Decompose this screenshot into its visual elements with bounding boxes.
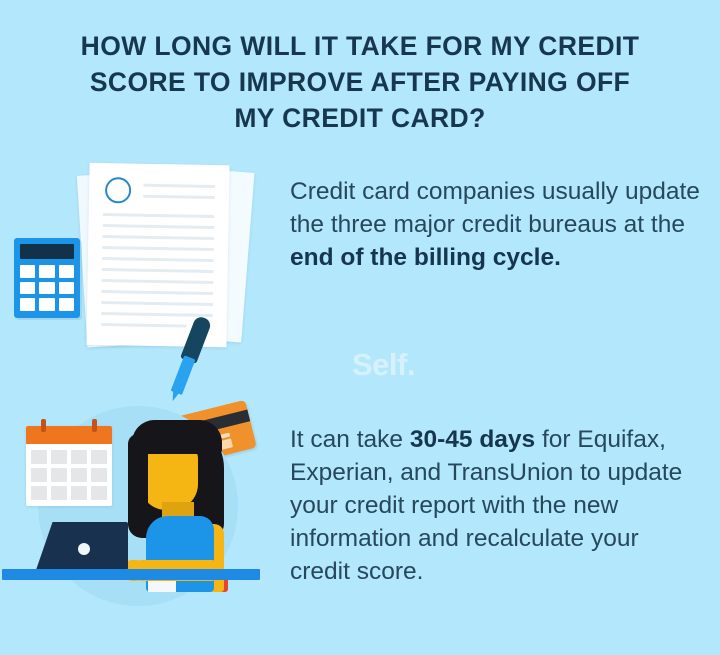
person-face xyxy=(140,448,198,510)
calculator-key xyxy=(20,298,35,311)
calendar-ring xyxy=(41,419,46,432)
calculator-key xyxy=(20,265,35,278)
bureau-update-text-plain-1: It can take xyxy=(290,426,410,453)
calculator-key xyxy=(20,282,35,295)
billing-cycle-text-emphasis: end of the billing cycle. xyxy=(290,244,561,271)
calendar-day-cell xyxy=(91,468,107,482)
calculator-key xyxy=(39,282,54,295)
laptop-logo-icon xyxy=(78,543,90,555)
bureau-update-text-emphasis: 30-45 days xyxy=(410,426,535,453)
documents-calculator-pen-card-illustration xyxy=(0,150,290,355)
calendar-ring xyxy=(92,419,97,432)
billing-cycle-text-plain: Credit card companies usually update the… xyxy=(290,178,700,238)
calendar-header-band xyxy=(26,426,112,444)
calculator-key xyxy=(59,282,74,295)
illustration-cell-billing-cycle xyxy=(0,150,290,355)
infographic-canvas: { "title": { "line1": "How long will it … xyxy=(0,0,720,655)
desk-surface xyxy=(2,569,260,580)
self-watermark: Self. xyxy=(352,347,415,383)
calendar-day-cell xyxy=(71,468,87,482)
calendar-day-cell xyxy=(31,450,47,464)
billing-cycle-paragraph: Credit card companies usually update the… xyxy=(290,175,702,274)
text-cell-bureau-update: It can take 30-45 days for Equifax, Expe… xyxy=(290,398,720,612)
calculator-key xyxy=(39,298,54,311)
person-laptop-calendar-illustration xyxy=(0,398,290,613)
calculator-icon xyxy=(14,238,80,318)
calendar-day-grid xyxy=(31,450,107,500)
calculator-key xyxy=(59,298,74,311)
title-line-2: score to improve after paying off xyxy=(22,64,698,100)
title-line-1: How long will it take for my credit xyxy=(22,28,698,64)
calculator-display xyxy=(20,244,74,259)
calendar-icon xyxy=(26,426,112,506)
pen-body xyxy=(170,355,195,395)
bureau-update-paragraph: It can take 30-45 days for Equifax, Expe… xyxy=(290,423,702,588)
section-billing-cycle: Credit card companies usually update the… xyxy=(0,150,720,355)
section-bureau-update: It can take 30-45 days for Equifax, Expe… xyxy=(0,398,720,612)
calculator-key xyxy=(39,265,54,278)
person-figure xyxy=(118,420,248,590)
calendar-day-cell xyxy=(91,450,107,464)
person-hair-side xyxy=(128,434,148,530)
calendar-day-cell xyxy=(31,468,47,482)
calendar-day-cell xyxy=(91,486,107,500)
calculator-key xyxy=(59,265,74,278)
calendar-day-cell xyxy=(71,486,87,500)
title-line-3: my credit card? xyxy=(22,100,698,136)
calendar-day-cell xyxy=(51,468,67,482)
calculator-keypad xyxy=(20,265,74,311)
text-cell-billing-cycle: Credit card companies usually update the… xyxy=(290,150,720,298)
calendar-day-cell xyxy=(31,486,47,500)
calendar-day-cell xyxy=(71,450,87,464)
calendar-day-cell xyxy=(51,450,67,464)
illustration-cell-bureau-update xyxy=(0,398,290,603)
calendar-day-cell xyxy=(51,486,67,500)
page-title: How long will it take for my credit scor… xyxy=(0,28,720,136)
